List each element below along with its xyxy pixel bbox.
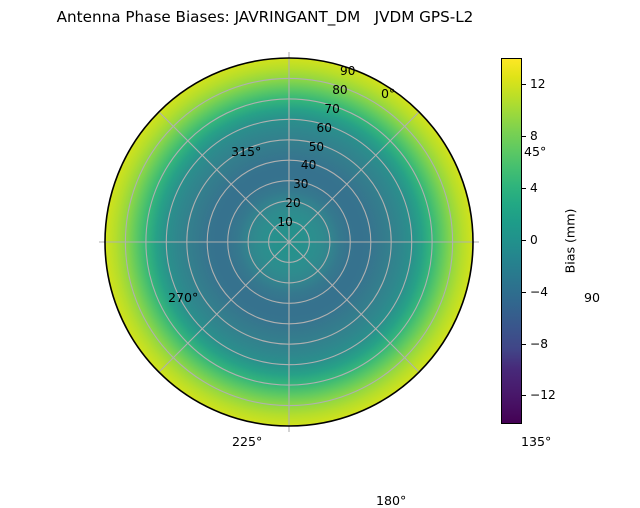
- colorbar-gradient: [501, 58, 522, 424]
- figure-canvas: Antenna Phase Biases: JAVRINGANT_DM JVDM…: [0, 0, 640, 480]
- colorbar-tick-label: 0: [530, 234, 538, 246]
- colorbar-axes[interactable]: 12840−4−8−12: [501, 58, 522, 424]
- colorbar-tick-label: −4: [530, 286, 548, 298]
- colorbar-tick-mark: [522, 188, 526, 189]
- radial-tick-60: 60: [310, 122, 332, 134]
- theta-tick-315: 315°: [231, 146, 261, 159]
- theta-tick-0: 0°: [381, 88, 395, 101]
- colorbar-tick-label: 12: [530, 78, 546, 90]
- colorbar-tick-mark: [522, 136, 526, 137]
- colorbar-tick-mark: [522, 292, 526, 293]
- colorbar-tick-mark: [522, 84, 526, 85]
- radial-tick-80: 80: [326, 84, 348, 96]
- colorbar-tick-label: 4: [530, 182, 538, 194]
- colorbar-tick-label: −8: [530, 337, 548, 349]
- polar-axes[interactable]: 0° 45° 90 135° 180° 225° 270° 315° 10203…: [105, 58, 473, 426]
- radial-tick-50: 50: [302, 141, 324, 153]
- colorbar-tick-label: 8: [530, 130, 538, 142]
- theta-tick-45: 45°: [524, 146, 546, 159]
- theta-tick-270: 270°: [168, 292, 198, 305]
- colorbar-tick-label: −12: [530, 389, 556, 401]
- polar-plot-svg: [105, 58, 473, 426]
- colorbar-tick-mark: [522, 395, 526, 396]
- radial-tick-20: 20: [279, 197, 301, 209]
- radial-tick-40: 40: [294, 159, 316, 171]
- colorbar-tick-mark: [522, 344, 526, 345]
- colorbar-tick-mark: [522, 240, 526, 241]
- chart-title: Antenna Phase Biases: JAVRINGANT_DM JVDM…: [0, 8, 530, 26]
- radial-tick-90: 90: [333, 65, 355, 77]
- radial-tick-30: 30: [286, 178, 308, 190]
- polar-angular-grid: [99, 52, 479, 432]
- theta-tick-180: 180°: [376, 495, 406, 508]
- radial-tick-10: 10: [271, 216, 293, 228]
- theta-tick-90: 90: [584, 292, 600, 305]
- radial-tick-70: 70: [318, 103, 340, 115]
- theta-tick-135: 135°: [521, 436, 551, 449]
- colorbar-label: Bias (mm): [565, 209, 578, 274]
- theta-tick-225: 225°: [232, 436, 262, 449]
